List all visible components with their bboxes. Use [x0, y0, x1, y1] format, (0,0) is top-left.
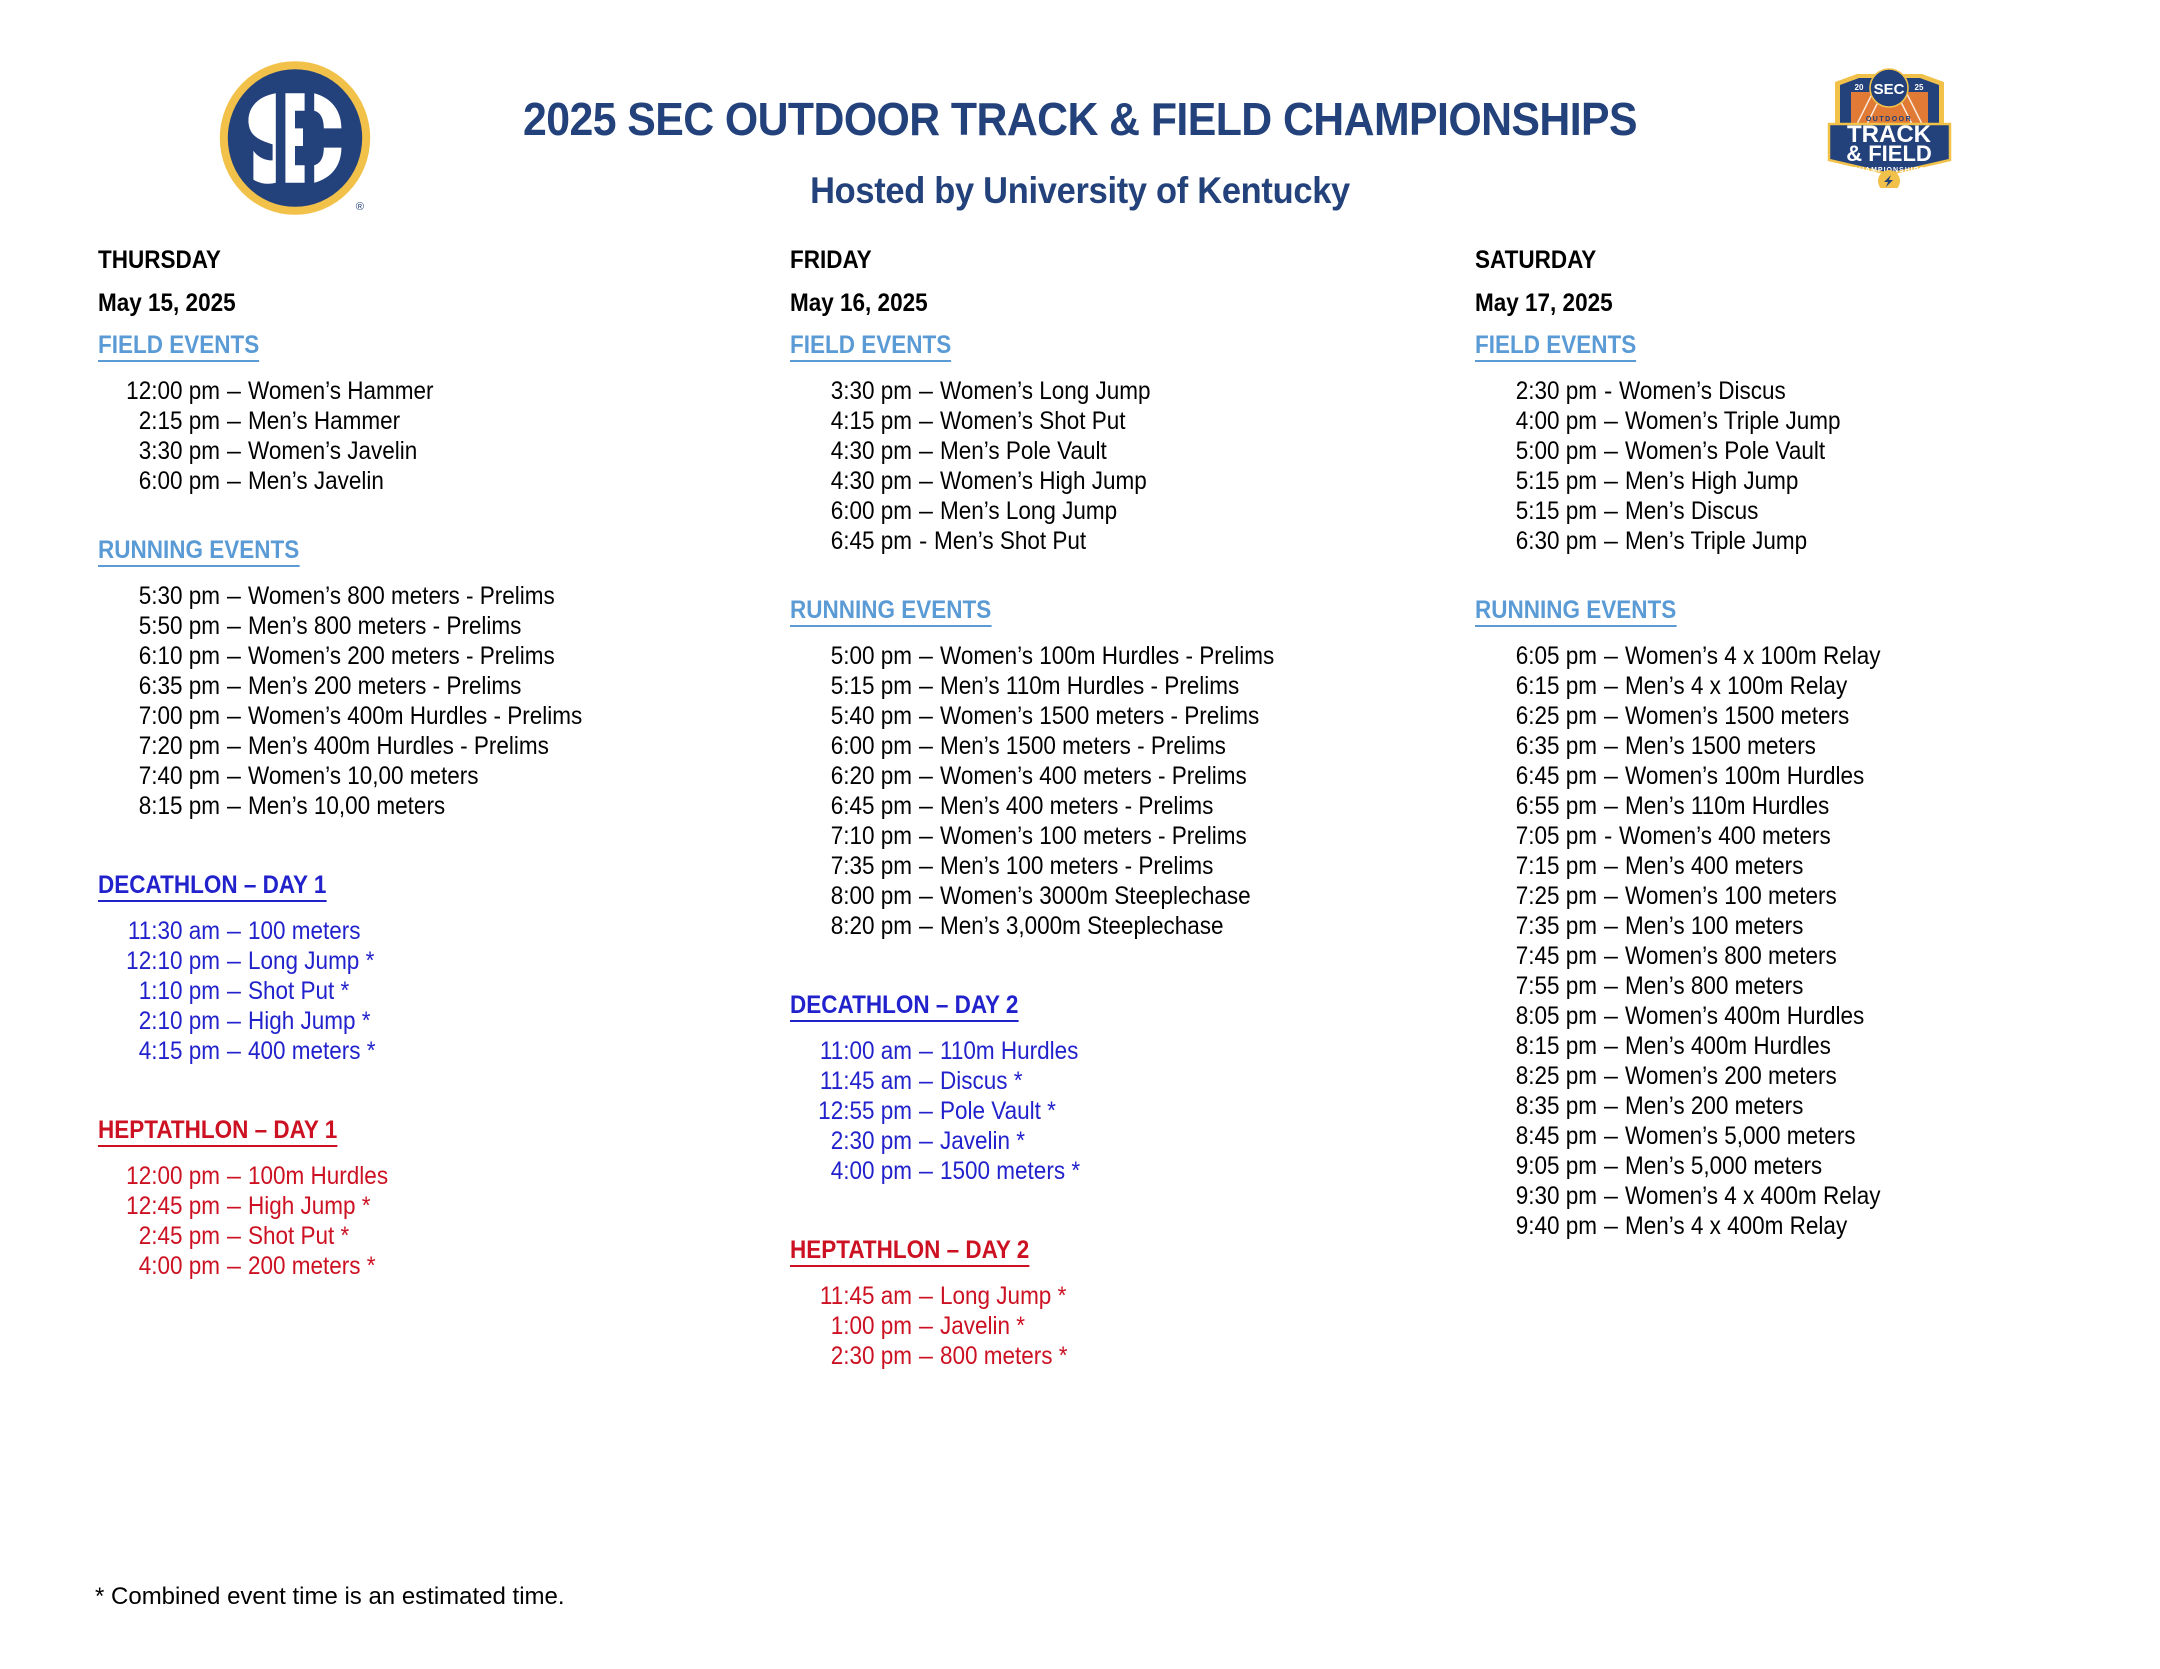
event-dash: –: [1597, 1091, 1625, 1121]
event-row: 9:40 pm–Men’s 4 x 400m Relay: [1475, 1211, 2135, 1241]
event-name: Javelin *: [940, 1126, 1399, 1156]
event-row: 7:00 pm–Women’s 400m Hurdles - Prelims: [98, 701, 758, 731]
event-name: Women’s 400m Hurdles - Prelims: [248, 701, 707, 731]
event-time: 1:00 pm: [802, 1311, 912, 1341]
event-row: 6:30 pm–Men’s Triple Jump: [1475, 526, 2135, 556]
event-row: 9:30 pm–Women’s 4 x 400m Relay: [1475, 1181, 2135, 1211]
event-dash: –: [220, 1191, 248, 1221]
event-time: 3:30 pm: [110, 436, 220, 466]
event-time: 7:00 pm: [110, 701, 220, 731]
event-row: 2:45 pm–Shot Put *: [98, 1221, 758, 1251]
event-list: 6:05 pm–Women’s 4 x 100m Relay6:15 pm–Me…: [1475, 641, 2135, 1241]
event-time: 7:40 pm: [110, 761, 220, 791]
event-name: 800 meters *: [940, 1341, 1399, 1371]
section-heading-wrap: FIELD EVENTS: [1475, 333, 2135, 376]
event-dash: –: [1597, 496, 1625, 526]
event-time: 4:15 pm: [802, 406, 912, 436]
event-name: Men’s Discus: [1625, 496, 2084, 526]
event-row: 12:10 pm–Long Jump *: [98, 946, 758, 976]
event-time: 4:00 pm: [1487, 406, 1597, 436]
event-row: 1:00 pm–Javelin *: [790, 1311, 1450, 1341]
event-row: 7:35 pm–Men’s 100 meters: [1475, 911, 2135, 941]
event-row: 11:45 am–Discus *: [790, 1066, 1450, 1096]
event-time: 12:55 pm: [802, 1096, 912, 1126]
event-time: 12:10 pm: [110, 946, 220, 976]
event-row: 3:30 pm–Women’s Javelin: [98, 436, 758, 466]
event-name: Women’s Javelin: [248, 436, 707, 466]
section-spacer: [790, 556, 1450, 598]
event-time: 4:15 pm: [110, 1036, 220, 1066]
section-heading: FIELD EVENTS: [98, 333, 259, 362]
event-name: Women’s 800 meters: [1625, 941, 2084, 971]
event-time: 11:45 am: [802, 1281, 912, 1311]
event-dash: –: [912, 881, 940, 911]
event-time: 8:05 pm: [1487, 1001, 1597, 1031]
event-dash: –: [912, 376, 940, 406]
event-time: 8:00 pm: [802, 881, 912, 911]
event-dash: –: [1597, 671, 1625, 701]
event-time: 7:15 pm: [1487, 851, 1597, 881]
day-date: May 16, 2025: [790, 291, 1384, 316]
event-dash: –: [912, 911, 940, 941]
event-time: 8:15 pm: [110, 791, 220, 821]
event-list: 5:30 pm–Women’s 800 meters - Prelims5:50…: [98, 581, 758, 821]
event-row: 7:20 pm–Men’s 400m Hurdles - Prelims: [98, 731, 758, 761]
event-row: 7:25 pm–Women’s 100 meters: [1475, 881, 2135, 911]
event-dash: –: [912, 406, 940, 436]
track-and-field-championship-logo: SEC 20 25 OUTDOOR TRACK & FIELD CHAMPION…: [1817, 48, 1962, 188]
event-dash: –: [220, 1251, 248, 1281]
event-time: 7:35 pm: [802, 851, 912, 881]
event-dash: –: [220, 436, 248, 466]
event-name: Women’s 400m Hurdles: [1625, 1001, 2084, 1031]
event-name: Discus *: [940, 1066, 1399, 1096]
event-name: Men’s 5,000 meters: [1625, 1151, 2084, 1181]
event-name: Women’s 400 meters: [1619, 821, 2083, 851]
event-row: 6:35 pm–Men’s 1500 meters: [1475, 731, 2135, 761]
event-row: 6:45 pm-Men’s Shot Put: [790, 526, 1450, 556]
event-name: Women’s Hammer: [248, 376, 707, 406]
event-dash: –: [912, 791, 940, 821]
event-row: 4:15 pm–400 meters *: [98, 1036, 758, 1066]
event-name: 100m Hurdles: [248, 1161, 707, 1191]
event-row: 7:45 pm–Women’s 800 meters: [1475, 941, 2135, 971]
event-dash: –: [220, 731, 248, 761]
day-date: May 17, 2025: [1475, 291, 2069, 316]
event-time: 2:30 pm: [1487, 376, 1597, 406]
event-time: 6:35 pm: [1487, 731, 1597, 761]
event-row: 1:10 pm–Shot Put *: [98, 976, 758, 1006]
event-time: 6:00 pm: [802, 496, 912, 526]
event-dash: –: [912, 436, 940, 466]
event-row: 6:05 pm–Women’s 4 x 100m Relay: [1475, 641, 2135, 671]
page-title: 2025 SEC OUTDOOR TRACK & FIELD CHAMPIONS…: [466, 96, 1694, 142]
event-name: Women’s High Jump: [940, 466, 1399, 496]
event-name: Men’s Pole Vault: [940, 436, 1399, 466]
event-dash: –: [912, 1066, 940, 1096]
event-dash: –: [1597, 971, 1625, 1001]
event-dash: –: [1597, 881, 1625, 911]
event-row: 11:00 am–110m Hurdles: [790, 1036, 1450, 1066]
event-row: 2:15 pm–Men’s Hammer: [98, 406, 758, 436]
event-row: 4:00 pm–200 meters *: [98, 1251, 758, 1281]
event-time: 2:30 pm: [802, 1126, 912, 1156]
section-heading-wrap: DECATHLON – DAY 2: [790, 993, 1450, 1036]
event-time: 4:30 pm: [802, 466, 912, 496]
event-row: 4:30 pm–Men’s Pole Vault: [790, 436, 1450, 466]
event-row: 5:15 pm–Men’s High Jump: [1475, 466, 2135, 496]
event-row: 6:45 pm–Men’s 400 meters - Prelims: [790, 791, 1450, 821]
event-row: 5:30 pm–Women’s 800 meters - Prelims: [98, 581, 758, 611]
event-dash: –: [1597, 1121, 1625, 1151]
section-heading: HEPTATHLON – DAY 2: [790, 1238, 1029, 1267]
event-name: Men’s Hammer: [248, 406, 707, 436]
event-time: 6:45 pm: [802, 791, 912, 821]
event-time: 6:10 pm: [110, 641, 220, 671]
event-dash: –: [912, 1341, 940, 1371]
event-row: 12:00 pm–100m Hurdles: [98, 1161, 758, 1191]
section-heading-wrap: FIELD EVENTS: [98, 333, 758, 376]
event-dash: –: [1597, 1151, 1625, 1181]
event-time: 9:40 pm: [1487, 1211, 1597, 1241]
event-time: 6:25 pm: [1487, 701, 1597, 731]
event-name: Women’s Shot Put: [940, 406, 1399, 436]
event-dash: –: [1597, 1001, 1625, 1031]
event-row: 8:00 pm–Women’s 3000m Steeplechase: [790, 881, 1450, 911]
event-time: 5:00 pm: [802, 641, 912, 671]
event-dash: –: [220, 976, 248, 1006]
event-dash: –: [912, 671, 940, 701]
event-list: 11:00 am–110m Hurdles11:45 am–Discus *12…: [790, 1036, 1450, 1186]
section-heading: DECATHLON – DAY 2: [790, 993, 1018, 1022]
event-row: 8:15 pm–Men’s 400m Hurdles: [1475, 1031, 2135, 1061]
event-dash: –: [1597, 791, 1625, 821]
event-name: High Jump *: [248, 1191, 707, 1221]
event-name: Long Jump *: [940, 1281, 1399, 1311]
title-block: 2025 SEC OUTDOOR TRACK & FIELD CHAMPIONS…: [420, 96, 1740, 209]
event-dash: –: [912, 1311, 940, 1341]
event-name: Women’s Pole Vault: [1625, 436, 2084, 466]
event-time: 6:35 pm: [110, 671, 220, 701]
section-spacer: [98, 821, 758, 873]
section-spacer: [1475, 556, 2135, 598]
event-time: 5:15 pm: [1487, 496, 1597, 526]
event-row: 12:00 pm–Women’s Hammer: [98, 376, 758, 406]
event-row: 7:40 pm–Women’s 10,00 meters: [98, 761, 758, 791]
event-time: 9:05 pm: [1487, 1151, 1597, 1181]
event-name: Women’s Triple Jump: [1625, 406, 2084, 436]
event-name: 200 meters *: [248, 1251, 707, 1281]
event-time: 4:30 pm: [802, 436, 912, 466]
event-dash: –: [1597, 1211, 1625, 1241]
event-name: Women’s Long Jump: [940, 376, 1399, 406]
day-name: FRIDAY: [790, 248, 1384, 273]
page-subtitle: Hosted by University of Kentucky: [466, 172, 1694, 209]
event-time: 5:30 pm: [110, 581, 220, 611]
event-time: 9:30 pm: [1487, 1181, 1597, 1211]
event-name: Men’s 400 meters - Prelims: [940, 791, 1399, 821]
event-dash: -: [912, 526, 934, 556]
event-list: 5:00 pm–Women’s 100m Hurdles - Prelims5:…: [790, 641, 1450, 941]
event-name: Women’s 4 x 100m Relay: [1625, 641, 2084, 671]
event-name: Men’s 400m Hurdles: [1625, 1031, 2084, 1061]
event-time: 2:10 pm: [110, 1006, 220, 1036]
event-name: Women’s 100 meters: [1625, 881, 2084, 911]
event-dash: –: [1597, 761, 1625, 791]
section-spacer: [790, 941, 1450, 993]
event-name: Men’s 4 x 100m Relay: [1625, 671, 2084, 701]
event-row: 4:00 pm–1500 meters *: [790, 1156, 1450, 1186]
day-date: May 15, 2025: [98, 291, 692, 316]
event-time: 6:00 pm: [110, 466, 220, 496]
section-heading: RUNNING EVENTS: [790, 598, 991, 627]
event-name: Women’s 4 x 400m Relay: [1625, 1181, 2084, 1211]
event-row: 5:00 pm–Women’s 100m Hurdles - Prelims: [790, 641, 1450, 671]
event-dash: –: [912, 701, 940, 731]
event-time: 7:35 pm: [1487, 911, 1597, 941]
event-dash: –: [220, 581, 248, 611]
section-spacer: [98, 1066, 758, 1118]
event-row: 4:00 pm–Women’s Triple Jump: [1475, 406, 2135, 436]
event-time: 6:45 pm: [1487, 761, 1597, 791]
event-row: 8:25 pm–Women’s 200 meters: [1475, 1061, 2135, 1091]
event-dash: –: [1597, 701, 1625, 731]
svg-text:20: 20: [1855, 83, 1864, 92]
event-dash: –: [912, 466, 940, 496]
day-column-friday: FRIDAYMay 16, 2025FIELD EVENTS3:30 pm–Wo…: [790, 248, 1450, 1371]
event-time: 3:30 pm: [802, 376, 912, 406]
event-time: 8:20 pm: [802, 911, 912, 941]
event-list: 12:00 pm–Women’s Hammer2:15 pm–Men’s Ham…: [98, 376, 758, 496]
day-column-saturday: SATURDAYMay 17, 2025FIELD EVENTS2:30 pm-…: [1475, 248, 2135, 1241]
event-name: Women’s 200 meters: [1625, 1061, 2084, 1091]
event-row: 12:45 pm–High Jump *: [98, 1191, 758, 1221]
event-row: 2:30 pm–Javelin *: [790, 1126, 1450, 1156]
event-name: Women’s 100m Hurdles - Prelims: [940, 641, 1399, 671]
event-row: 5:40 pm–Women’s 1500 meters - Prelims: [790, 701, 1450, 731]
event-time: 6:05 pm: [1487, 641, 1597, 671]
event-dash: –: [912, 641, 940, 671]
svg-text:25: 25: [1915, 83, 1924, 92]
event-dash: –: [220, 671, 248, 701]
event-name: Men’s 1500 meters - Prelims: [940, 731, 1399, 761]
event-row: 11:45 am–Long Jump *: [790, 1281, 1450, 1311]
event-dash: –: [220, 1006, 248, 1036]
event-name: Men’s High Jump: [1625, 466, 2084, 496]
event-row: 4:15 pm–Women’s Shot Put: [790, 406, 1450, 436]
event-time: 8:35 pm: [1487, 1091, 1597, 1121]
event-row: 6:15 pm–Men’s 4 x 100m Relay: [1475, 671, 2135, 701]
section-heading-wrap: FIELD EVENTS: [790, 333, 1450, 376]
event-dash: –: [220, 946, 248, 976]
event-name: Shot Put *: [248, 1221, 707, 1251]
event-list: 3:30 pm–Women’s Long Jump4:15 pm–Women’s…: [790, 376, 1450, 556]
event-list: 11:45 am–Long Jump *1:00 pm–Javelin *2:3…: [790, 1281, 1450, 1371]
event-name: Shot Put *: [248, 976, 707, 1006]
event-time: 2:30 pm: [802, 1341, 912, 1371]
sec-logo: ®: [215, 58, 375, 218]
event-row: 6:00 pm–Men’s 1500 meters - Prelims: [790, 731, 1450, 761]
section-heading: HEPTATHLON – DAY 1: [98, 1118, 337, 1147]
event-time: 7:25 pm: [1487, 881, 1597, 911]
event-row: 6:10 pm–Women’s 200 meters - Prelims: [98, 641, 758, 671]
section-heading: DECATHLON – DAY 1: [98, 873, 326, 902]
event-dash: -: [1597, 376, 1619, 406]
event-row: 5:15 pm–Men’s Discus: [1475, 496, 2135, 526]
event-name: Women’s 1500 meters: [1625, 701, 2084, 731]
event-dash: –: [220, 1036, 248, 1066]
event-name: Women’s 100 meters - Prelims: [940, 821, 1399, 851]
event-dash: –: [1597, 1181, 1625, 1211]
event-name: Men’s 110m Hurdles: [1625, 791, 2084, 821]
event-time: 2:15 pm: [110, 406, 220, 436]
event-name: Women’s 3000m Steeplechase: [940, 881, 1399, 911]
event-dash: –: [220, 761, 248, 791]
event-name: Men’s Javelin: [248, 466, 707, 496]
event-dash: –: [912, 1156, 940, 1186]
event-name: Men’s 400m Hurdles - Prelims: [248, 731, 707, 761]
section-heading-wrap: RUNNING EVENTS: [1475, 598, 2135, 641]
event-time: 7:10 pm: [802, 821, 912, 851]
event-row: 6:35 pm–Men’s 200 meters - Prelims: [98, 671, 758, 701]
event-name: Men’s 10,00 meters: [248, 791, 707, 821]
event-name: Women’s 800 meters - Prelims: [248, 581, 707, 611]
day-name: THURSDAY: [98, 248, 692, 273]
event-row: 7:10 pm–Women’s 100 meters - Prelims: [790, 821, 1450, 851]
event-row: 5:00 pm–Women’s Pole Vault: [1475, 436, 2135, 466]
day-column-thursday: THURSDAYMay 15, 2025FIELD EVENTS12:00 pm…: [98, 248, 758, 1281]
event-dash: –: [220, 1161, 248, 1191]
event-row: 8:05 pm–Women’s 400m Hurdles: [1475, 1001, 2135, 1031]
event-name: Women’s Discus: [1619, 376, 2083, 406]
event-name: 100 meters: [248, 916, 707, 946]
event-row: 7:05 pm-Women’s 400 meters: [1475, 821, 2135, 851]
event-time: 5:50 pm: [110, 611, 220, 641]
event-dash: –: [1597, 911, 1625, 941]
event-time: 7:20 pm: [110, 731, 220, 761]
event-row: 8:15 pm–Men’s 10,00 meters: [98, 791, 758, 821]
event-dash: –: [220, 701, 248, 731]
svg-text:®: ®: [356, 201, 365, 213]
event-name: Men’s 3,000m Steeplechase: [940, 911, 1399, 941]
event-dash: –: [1597, 941, 1625, 971]
event-dash: –: [912, 1096, 940, 1126]
event-dash: –: [220, 406, 248, 436]
section-heading-wrap: DECATHLON – DAY 1: [98, 873, 758, 916]
event-name: Men’s Shot Put: [934, 526, 1398, 556]
event-time: 5:15 pm: [802, 671, 912, 701]
event-name: 1500 meters *: [940, 1156, 1399, 1186]
event-name: Men’s 200 meters - Prelims: [248, 671, 707, 701]
event-time: 6:55 pm: [1487, 791, 1597, 821]
event-time: 8:45 pm: [1487, 1121, 1597, 1151]
event-dash: –: [220, 611, 248, 641]
event-name: Men’s 800 meters: [1625, 971, 2084, 1001]
event-time: 8:15 pm: [1487, 1031, 1597, 1061]
event-name: Men’s 100 meters - Prelims: [940, 851, 1399, 881]
section-heading: RUNNING EVENTS: [98, 538, 299, 567]
event-time: 7:05 pm: [1487, 821, 1597, 851]
event-name: Women’s 5,000 meters: [1625, 1121, 2084, 1151]
event-dash: –: [1597, 406, 1625, 436]
event-time: 6:30 pm: [1487, 526, 1597, 556]
event-row: 6:20 pm–Women’s 400 meters - Prelims: [790, 761, 1450, 791]
section-heading: FIELD EVENTS: [790, 333, 951, 362]
event-row: 5:50 pm–Men’s 800 meters - Prelims: [98, 611, 758, 641]
event-row: 12:55 pm–Pole Vault *: [790, 1096, 1450, 1126]
event-row: 6:55 pm–Men’s 110m Hurdles: [1475, 791, 2135, 821]
event-row: 9:05 pm–Men’s 5,000 meters: [1475, 1151, 2135, 1181]
event-name: Men’s 110m Hurdles - Prelims: [940, 671, 1399, 701]
event-dash: –: [912, 731, 940, 761]
event-name: Women’s 10,00 meters: [248, 761, 707, 791]
event-time: 5:40 pm: [802, 701, 912, 731]
event-name: Javelin *: [940, 1311, 1399, 1341]
event-dash: –: [912, 1281, 940, 1311]
event-dash: –: [1597, 1031, 1625, 1061]
event-dash: –: [220, 916, 248, 946]
svg-text:& FIELD: & FIELD: [1846, 141, 1932, 166]
event-time: 8:25 pm: [1487, 1061, 1597, 1091]
event-dash: –: [1597, 436, 1625, 466]
event-name: Men’s 200 meters: [1625, 1091, 2084, 1121]
event-name: Men’s Triple Jump: [1625, 526, 2084, 556]
event-dash: –: [220, 791, 248, 821]
section-heading-wrap: RUNNING EVENTS: [790, 598, 1450, 641]
event-time: 12:00 pm: [110, 376, 220, 406]
event-time: 6:20 pm: [802, 761, 912, 791]
event-time: 1:10 pm: [110, 976, 220, 1006]
event-list: 11:30 am–100 meters12:10 pm–Long Jump *1…: [98, 916, 758, 1066]
event-dash: –: [1597, 641, 1625, 671]
event-time: 4:00 pm: [802, 1156, 912, 1186]
event-name: Men’s 800 meters - Prelims: [248, 611, 707, 641]
event-name: 110m Hurdles: [940, 1036, 1399, 1066]
page-header: ® SEC 20 25 OUTDOOR TRACK & FIELD CHAMPI…: [0, 0, 2160, 238]
event-row: 6:45 pm–Women’s 100m Hurdles: [1475, 761, 2135, 791]
event-name: Men’s Long Jump: [940, 496, 1399, 526]
event-time: 4:00 pm: [110, 1251, 220, 1281]
event-name: Men’s 100 meters: [1625, 911, 2084, 941]
section-heading: RUNNING EVENTS: [1475, 598, 1676, 627]
event-time: 5:15 pm: [1487, 466, 1597, 496]
event-name: Women’s 400 meters - Prelims: [940, 761, 1399, 791]
event-row: 5:15 pm–Men’s 110m Hurdles - Prelims: [790, 671, 1450, 701]
event-dash: –: [912, 1036, 940, 1066]
event-row: 3:30 pm–Women’s Long Jump: [790, 376, 1450, 406]
event-dash: –: [1597, 731, 1625, 761]
footnote: * Combined event time is an estimated ti…: [95, 1583, 565, 1611]
section-heading: FIELD EVENTS: [1475, 333, 1636, 362]
event-time: 7:45 pm: [1487, 941, 1597, 971]
event-dash: –: [912, 821, 940, 851]
event-time: 11:30 am: [110, 916, 220, 946]
event-row: 6:00 pm–Men’s Javelin: [98, 466, 758, 496]
event-row: 8:20 pm–Men’s 3,000m Steeplechase: [790, 911, 1450, 941]
event-row: 2:10 pm–High Jump *: [98, 1006, 758, 1036]
event-name: Men’s 400 meters: [1625, 851, 2084, 881]
event-time: 2:45 pm: [110, 1221, 220, 1251]
event-row: 6:00 pm–Men’s Long Jump: [790, 496, 1450, 526]
event-time: 12:00 pm: [110, 1161, 220, 1191]
event-name: Pole Vault *: [940, 1096, 1399, 1126]
event-row: 8:35 pm–Men’s 200 meters: [1475, 1091, 2135, 1121]
event-dash: –: [912, 1126, 940, 1156]
event-row: 6:25 pm–Women’s 1500 meters: [1475, 701, 2135, 731]
event-dash: –: [1597, 526, 1625, 556]
event-time: 5:00 pm: [1487, 436, 1597, 466]
section-spacer: [790, 1186, 1450, 1238]
